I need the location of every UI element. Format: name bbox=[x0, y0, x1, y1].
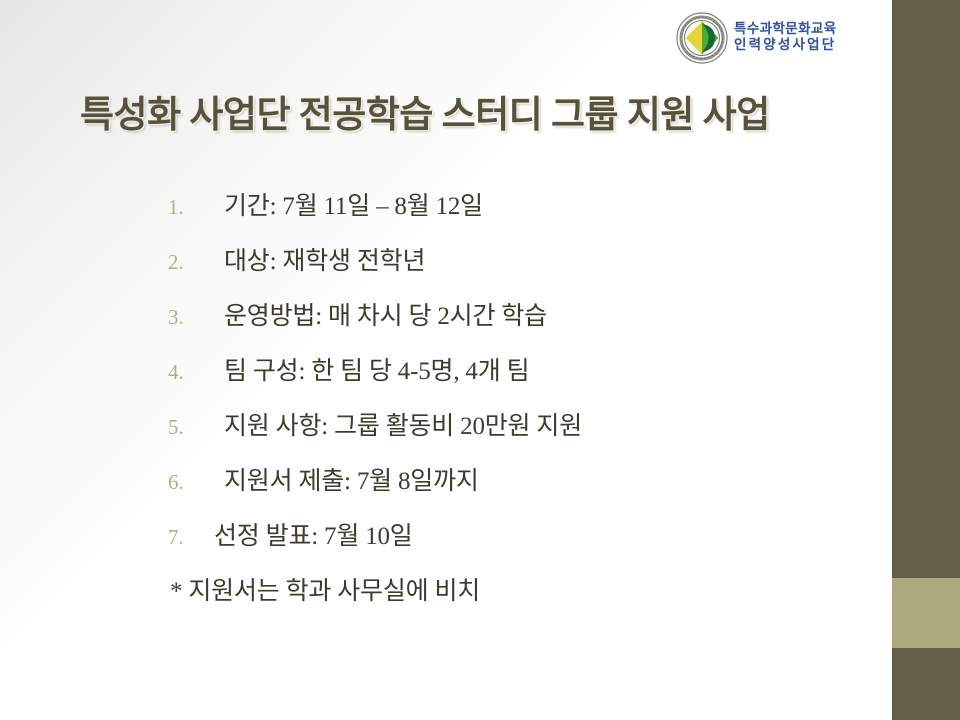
list-item: 7. 선정 발표: 7월 10일 bbox=[168, 516, 868, 571]
list-item-label: 팀 구성: 한 팀 당 4-5명, 4개 팀 bbox=[224, 351, 529, 387]
list-item-label: 선정 발표: 7월 10일 bbox=[214, 516, 413, 552]
organization-logo-text: 특수과학문화교육 인력양성사업단 bbox=[734, 22, 837, 54]
list-item-number: 1. bbox=[168, 195, 224, 220]
list-item-number: 2. bbox=[168, 250, 224, 275]
list-item: 2. 대상: 재학생 전학년 bbox=[168, 241, 868, 296]
organization-logo: 특수과학문화교육 인력양성사업단 bbox=[670, 6, 870, 70]
list-item-label: 기간: 7월 11일 – 8월 12일 bbox=[224, 186, 483, 222]
numbered-list: 1. 기간: 7월 11일 – 8월 12일 2. 대상: 재학생 전학년 3.… bbox=[168, 186, 868, 571]
list-item: 4. 팀 구성: 한 팀 당 4-5명, 4개 팀 bbox=[168, 351, 868, 406]
list-item: 6. 지원서 제출: 7월 8일까지 bbox=[168, 461, 868, 516]
list-item-number: 3. bbox=[168, 305, 224, 330]
logo-line-1: 특수과학문화교육 bbox=[734, 22, 837, 38]
slide-canvas: 특수과학문화교육 인력양성사업단 특성화 사업단 전공학습 스터디 그룹 지원 … bbox=[0, 0, 960, 720]
list-item-label: 운영방법: 매 차시 당 2시간 학습 bbox=[224, 296, 547, 332]
list-item-number: 7. bbox=[168, 525, 214, 550]
logo-line-2: 인력양성사업단 bbox=[734, 38, 837, 54]
list-item-label: 대상: 재학생 전학년 bbox=[224, 241, 425, 277]
accent-bar-middle bbox=[892, 578, 960, 648]
list-item: 5. 지원 사항: 그룹 활동비 20만원 지원 bbox=[168, 406, 868, 461]
page-title: 특성화 사업단 전공학습 스터디 그룹 지원 사업 bbox=[80, 84, 770, 138]
list-item: 3. 운영방법: 매 차시 당 2시간 학습 bbox=[168, 296, 868, 351]
accent-bar-top bbox=[892, 0, 960, 578]
footnote-text: * 지원서는 학과 사무실에 비치 bbox=[170, 571, 480, 607]
accent-bar-bottom bbox=[892, 648, 960, 720]
list-item: 1. 기간: 7월 11일 – 8월 12일 bbox=[168, 186, 868, 241]
list-item-label: 지원서 제출: 7월 8일까지 bbox=[224, 461, 479, 497]
university-seal-icon bbox=[676, 12, 728, 64]
list-item-number: 4. bbox=[168, 360, 224, 385]
list-item-number: 6. bbox=[168, 470, 224, 495]
list-item-number: 5. bbox=[168, 415, 224, 440]
list-item-label: 지원 사항: 그룹 활동비 20만원 지원 bbox=[224, 406, 582, 442]
